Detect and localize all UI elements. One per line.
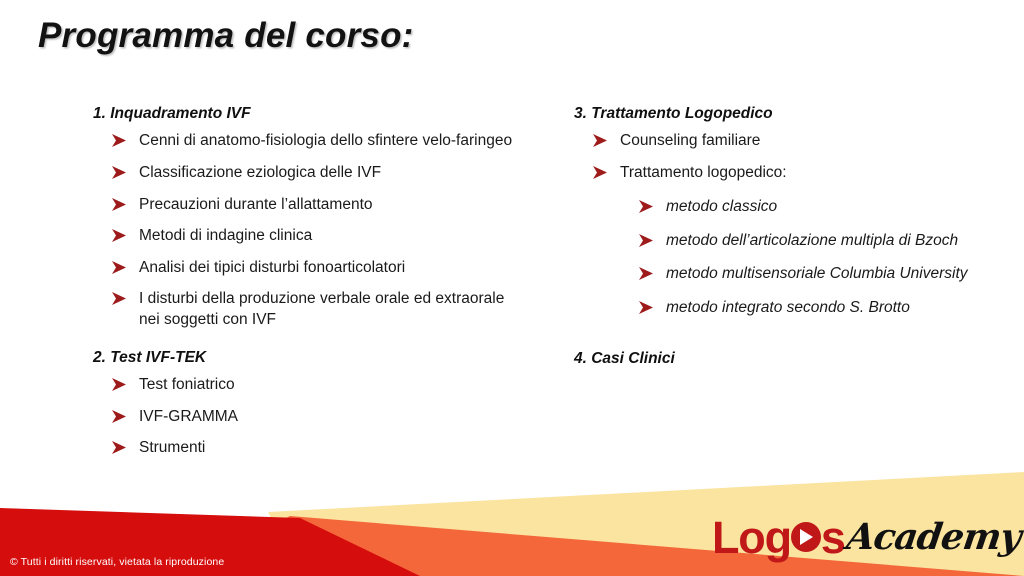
logo-text-s: s (821, 515, 845, 560)
content-column-right: 3. Trattamento Logopedico Counseling fam… (574, 104, 974, 377)
sub-list-item: metodo dell’articolazione multipla di Bz… (574, 231, 974, 252)
sub-list-item: metodo multisensoriale Columbia Universi… (574, 264, 974, 285)
list-item-label: Metodi di indagine clinica (139, 227, 312, 244)
bullet-list: Cenni di anatomo-fisiologia dello sfinte… (93, 131, 525, 330)
arrow-bullet-icon (111, 409, 128, 424)
arrow-bullet-icon (111, 165, 128, 180)
list-item-label: Classificazione eziologica delle IVF (139, 164, 381, 181)
arrow-bullet-icon (111, 260, 128, 275)
list-item-label: Analisi dei tipici disturbi fonoarticola… (139, 259, 405, 276)
sub-list-item: metodo classico (574, 197, 974, 218)
sub-list-item-label: metodo classico (666, 198, 777, 215)
sub-list-item-label: metodo multisensoriale Columbia Universi… (666, 265, 968, 282)
list-item-label: IVF-GRAMMA (139, 408, 238, 425)
section-heading: 4. Casi Clinici (574, 349, 974, 368)
content-column-left: 1. Inquadramento IVF Cenni di anatomo-fi… (93, 104, 525, 459)
arrow-bullet-icon (638, 199, 655, 214)
list-item: IVF-GRAMMA (93, 407, 525, 428)
list-item: Classificazione eziologica delle IVF (93, 163, 525, 184)
arrow-bullet-icon (638, 266, 655, 281)
logo-wordmark: Log s (712, 515, 845, 560)
section-casi-clinici: 4. Casi Clinici (574, 349, 974, 368)
section-heading: 2. Test IVF-TEK (93, 348, 525, 367)
section-spacer (574, 319, 974, 349)
list-item-label: Counseling familiare (620, 132, 760, 149)
list-item: Cenni di anatomo-fisiologia dello sfinte… (93, 131, 525, 152)
bullet-list: Test foniatrico IVF-GRAMMA Strumenti (93, 375, 525, 459)
sub-bullet-list: metodo classico metodo dell’articolazion… (574, 197, 974, 320)
section-heading: 3. Trattamento Logopedico (574, 104, 974, 123)
list-item: Analisi dei tipici disturbi fonoarticola… (93, 258, 525, 279)
arrow-bullet-icon (111, 197, 128, 212)
section-inquadramento-ivf: 1. Inquadramento IVF Cenni di anatomo-fi… (93, 104, 525, 331)
arrow-bullet-icon (111, 291, 128, 306)
logo-text-log: Log (712, 515, 791, 560)
arrow-bullet-icon (638, 233, 655, 248)
list-item: Trattamento logopedico: (574, 163, 974, 184)
bullet-list: Counseling familiare Trattamento logoped… (574, 131, 974, 183)
arrow-bullet-icon (111, 377, 128, 392)
arrow-bullet-icon (111, 228, 128, 243)
sub-list-item-label: metodo dell’articolazione multipla di Bz… (666, 232, 958, 249)
list-item-label: I disturbi della produzione verbale oral… (139, 290, 504, 328)
list-item: Counseling familiare (574, 131, 974, 152)
section-heading: 1. Inquadramento IVF (93, 104, 525, 123)
list-item-label: Precauzioni durante l’allattamento (139, 196, 373, 213)
section-trattamento-logopedico: 3. Trattamento Logopedico Counseling fam… (574, 104, 974, 319)
list-item-label: Test foniatrico (139, 376, 235, 393)
list-item: Strumenti (93, 438, 525, 459)
sub-list-item-label: metodo integrato secondo S. Brotto (666, 299, 910, 316)
list-item: Precauzioni durante l’allattamento (93, 195, 525, 216)
page-title: Programma del corso: (38, 16, 414, 56)
sub-list-item: metodo integrato secondo S. Brotto (574, 298, 974, 319)
arrow-bullet-icon (638, 300, 655, 315)
list-item-label: Trattamento logopedico: (620, 164, 787, 181)
section-spacer (93, 331, 525, 348)
list-item: Metodi di indagine clinica (93, 226, 525, 247)
play-triangle-icon (791, 522, 821, 552)
list-item: Test foniatrico (93, 375, 525, 396)
logo-text-academy: Academy (844, 519, 1022, 555)
list-item-label: Strumenti (139, 439, 205, 456)
slide: Programma del corso: 1. Inquadramento IV… (0, 0, 1024, 576)
arrow-bullet-icon (111, 133, 128, 148)
arrow-bullet-icon (592, 133, 609, 148)
copyright-notice: © Tutti i diritti riservati, vietata la … (10, 556, 224, 568)
arrow-bullet-icon (111, 440, 128, 455)
list-item-label: Cenni di anatomo-fisiologia dello sfinte… (139, 132, 512, 149)
list-item: I disturbi della produzione verbale oral… (93, 289, 525, 330)
section-test-ivf-tek: 2. Test IVF-TEK Test foniatrico IVF-GRAM… (93, 348, 525, 459)
arrow-bullet-icon (592, 165, 609, 180)
logos-academy-logo: Log s Academy (712, 508, 1020, 566)
